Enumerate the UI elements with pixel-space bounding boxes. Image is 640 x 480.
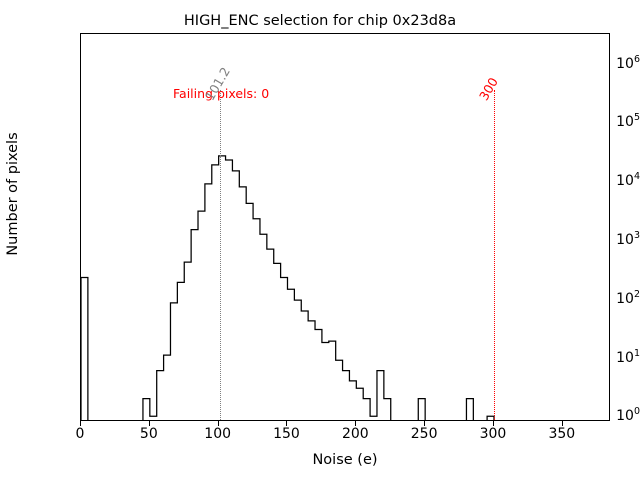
x-tick-label: 200	[342, 426, 369, 442]
histogram-outline	[81, 156, 494, 421]
plot-area: Failing pixels: 0	[80, 33, 610, 421]
y-tick-minor	[80, 140, 81, 141]
y-tick-minor	[80, 375, 81, 376]
y-tick-minor	[80, 146, 81, 147]
x-tick-major	[286, 421, 287, 426]
y-tick-minor	[80, 135, 81, 136]
y-tick-minor	[80, 360, 81, 361]
y-tick-major	[80, 64, 81, 65]
page-title: HIGH_ENC selection for chip 0x23d8a	[0, 13, 640, 29]
x-tick-label: 150	[273, 426, 300, 442]
y-tick-minor	[80, 94, 81, 95]
threshold-vline	[494, 90, 495, 421]
histogram-figure: HIGH_ENC selection for chip 0x23d8a Numb…	[0, 0, 640, 480]
y-tick-minor	[80, 69, 81, 70]
y-tick-minor	[80, 73, 81, 74]
x-tick-label: 300	[480, 426, 507, 442]
y-tick-minor	[80, 316, 81, 317]
y-tick-minor	[80, 81, 81, 82]
x-tick-label: 250	[411, 426, 438, 442]
y-tick-minor	[80, 128, 81, 129]
y-tick-minor	[80, 304, 81, 305]
x-tick-major	[149, 421, 150, 426]
y-tick-minor	[80, 388, 81, 389]
y-tick-minor	[80, 132, 81, 133]
y-tick-minor	[80, 399, 81, 400]
y-tick-minor	[80, 258, 81, 259]
y-tick-minor	[80, 371, 81, 372]
y-tick-minor	[80, 322, 81, 323]
y-tick-minor	[80, 340, 81, 341]
x-tick-label: 100	[204, 426, 231, 442]
y-tick-minor	[80, 271, 81, 272]
y-tick-major	[80, 358, 81, 359]
y-tick-minor	[80, 222, 81, 223]
y-tick-minor	[80, 87, 81, 88]
x-tick-major	[218, 421, 219, 426]
y-tick-minor	[80, 308, 81, 309]
y-tick-minor	[80, 105, 81, 106]
y-tick-minor	[80, 187, 81, 188]
y-tick-minor	[80, 363, 81, 364]
mean-vline	[220, 90, 221, 421]
y-axis-label: Number of pixels	[5, 29, 21, 359]
x-tick-label: 350	[548, 426, 575, 442]
y-tick-minor	[80, 243, 81, 244]
y-tick-major	[80, 240, 81, 241]
y-tick-minor	[80, 301, 81, 302]
x-tick-label: 50	[140, 426, 158, 442]
y-tick-minor	[80, 66, 81, 67]
x-tick-major	[562, 421, 563, 426]
y-tick-minor	[80, 419, 81, 420]
y-tick-minor	[80, 312, 81, 313]
y-tick-minor	[80, 367, 81, 368]
x-tick-major	[493, 421, 494, 426]
y-tick-minor	[80, 77, 81, 78]
x-tick-major	[355, 421, 356, 426]
y-tick-minor	[80, 184, 81, 185]
y-tick-minor	[80, 46, 81, 47]
y-tick-minor	[80, 381, 81, 382]
x-tick-label: 0	[76, 426, 85, 442]
y-tick-major	[80, 299, 81, 300]
x-axis-label: Noise (e)	[80, 452, 610, 468]
plot-inner	[81, 34, 609, 420]
x-tick-major	[424, 421, 425, 426]
y-tick-minor	[80, 281, 81, 282]
y-tick-minor	[80, 153, 81, 154]
y-tick-minor	[80, 205, 81, 206]
y-tick-major	[80, 181, 81, 182]
y-tick-minor	[80, 246, 81, 247]
y-tick-minor	[80, 329, 81, 330]
y-tick-minor	[80, 190, 81, 191]
y-tick-major	[80, 416, 81, 417]
y-tick-minor	[80, 194, 81, 195]
y-tick-minor	[80, 253, 81, 254]
y-tick-minor	[80, 263, 81, 264]
x-tick-major	[80, 421, 81, 426]
y-tick-minor	[80, 36, 81, 37]
y-tick-major	[80, 122, 81, 123]
y-tick-minor	[80, 212, 81, 213]
y-tick-minor	[80, 199, 81, 200]
y-tick-minor	[80, 164, 81, 165]
y-tick-minor	[80, 249, 81, 250]
y-tick-minor	[80, 125, 81, 126]
histogram-series	[81, 34, 610, 421]
